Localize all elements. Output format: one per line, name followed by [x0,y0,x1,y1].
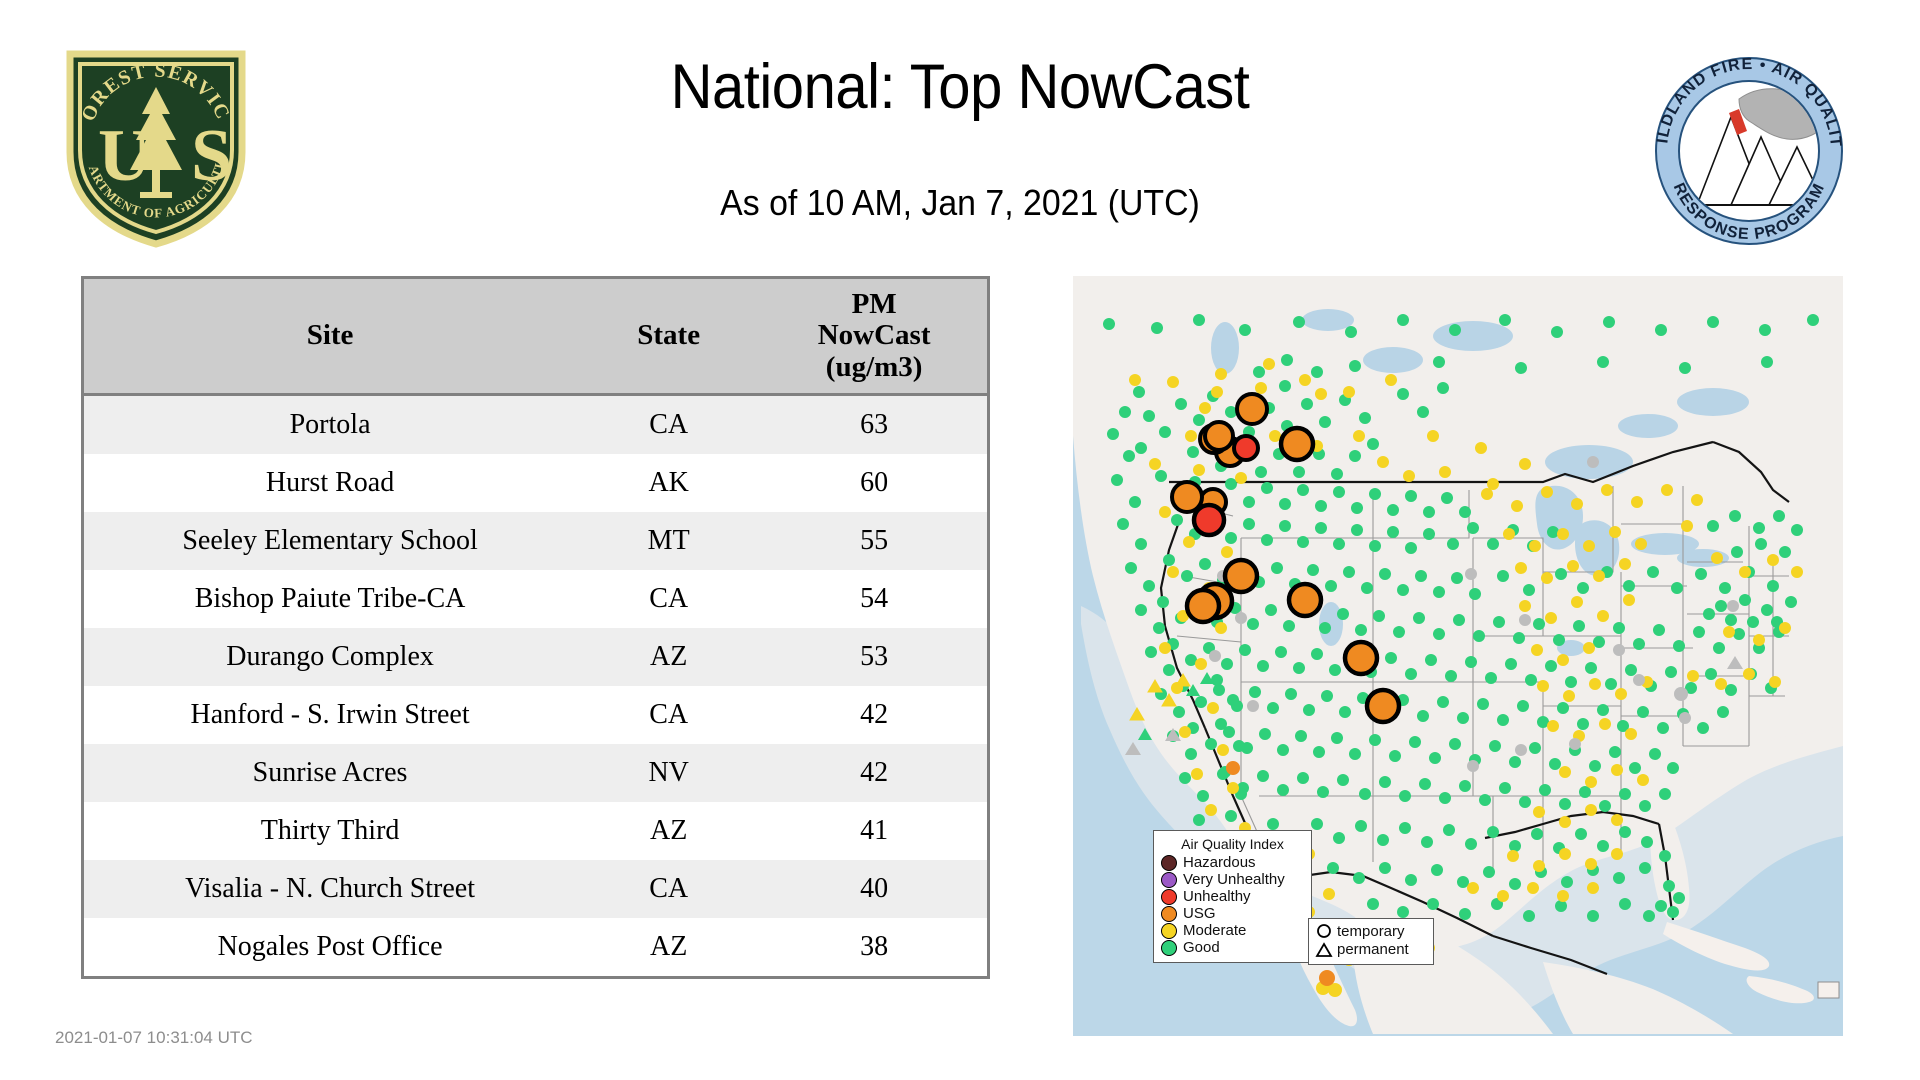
legend-label-good: Good [1183,939,1220,956]
table-row: Portola CA 63 [84,394,987,454]
cell-site: Hanford - S. Irwin Street [84,686,576,744]
triangle-icon [1315,941,1333,959]
legend-dot-hazardous [1161,855,1177,871]
aqi-legend: Air Quality Index Hazardous Very Unhealt… [1153,830,1312,963]
cell-state: AZ [576,918,761,976]
cell-state: AZ [576,628,761,686]
legend-label-hazardous: Hazardous [1183,854,1256,871]
pm-header-line-1: PM [765,289,983,320]
top-site-marker-bishop [1225,560,1257,592]
legend-item-usg: USG [1161,905,1304,922]
cell-pm: 41 [761,802,987,860]
cell-state: MT [576,512,761,570]
top-site-marker [1237,394,1267,424]
table-row: Thirty Third AZ 41 [84,802,987,860]
cell-pm: 38 [761,918,987,976]
page-title: National: Top NowCast [77,56,1843,119]
cell-state: CA [576,394,761,454]
cell-pm: 53 [761,628,987,686]
legend-item-hazardous: Hazardous [1161,854,1304,871]
cell-state: AK [576,454,761,512]
legend-item-very-unhealthy: Very Unhealthy [1161,871,1304,888]
cell-site: Thirty Third [84,802,576,860]
column-header-site: Site [84,279,576,394]
legend-dot-very-unhealthy [1161,872,1177,888]
column-header-pm-nowcast: PM NowCast (ug/m3) [761,279,987,394]
table-row: Bishop Paiute Tribe-CA CA 54 [84,570,987,628]
legend-item-moderate: Moderate [1161,922,1304,939]
top-site-marker-seeley [1281,428,1313,460]
circle-icon [1315,923,1333,941]
aqi-legend-title: Air Quality Index [1161,836,1304,852]
cell-state: CA [576,860,761,918]
cell-site: Seeley Elementary School [84,512,576,570]
page-subtitle: As of 10 AM, Jan 7, 2021 (UTC) [58,185,1863,221]
legend-item-permanent: permanent [1315,941,1427,959]
puerto-rico-inset [1818,982,1839,998]
column-header-state: State [576,279,761,394]
top-site-marker-portola [1194,505,1224,535]
legend-label-very-unhealthy: Very Unhealthy [1183,871,1285,888]
legend-item-temporary: temporary [1315,923,1427,941]
cell-site: Nogales Post Office [84,918,576,976]
cell-state: CA [576,570,761,628]
top-site-marker-durango [1367,690,1399,722]
legend-label-permanent: permanent [1337,941,1409,959]
table-row: Visalia - N. Church Street CA 40 [84,860,987,918]
slide-root: FOREST SERVICE U S DEPARTMENT OF AGRICUL… [0,0,1920,1080]
cell-state: NV [576,744,761,802]
table-row: Durango Complex AZ 53 [84,628,987,686]
legend-label-moderate: Moderate [1183,922,1246,939]
legend-item-unhealthy: Unhealthy [1161,888,1304,905]
generated-timestamp: 2021-01-07 10:31:04 UTC [55,1028,253,1048]
table-row: Hanford - S. Irwin Street CA 42 [84,686,987,744]
table-row: Hurst Road AK 60 [84,454,987,512]
top-site-marker-thirtythird [1345,642,1377,674]
monitor-type-legend: temporary permanent [1308,918,1434,965]
cell-state: AZ [576,802,761,860]
table-row: Nogales Post Office AZ 38 [84,918,987,976]
cell-site: Sunrise Acres [84,744,576,802]
top-site-marker-visalia [1187,590,1219,622]
legend-label-unhealthy: Unhealthy [1183,888,1251,905]
top-site-marker [1234,436,1258,460]
table-header-row: Site State PM NowCast (ug/m3) [84,279,987,394]
top-site-marker-sunrise [1289,584,1321,616]
pm-header-line-3: (ug/m3) [765,352,983,383]
cell-site: Durango Complex [84,628,576,686]
legend-item-good: Good [1161,939,1304,956]
legend-label-usg: USG [1183,905,1216,922]
cell-site: Hurst Road [84,454,576,512]
cell-pm: 60 [761,454,987,512]
legend-dot-moderate [1161,923,1177,939]
cell-site: Portola [84,394,576,454]
pm-header-line-2: NowCast [765,320,983,351]
cell-pm: 42 [761,744,987,802]
cell-state: CA [576,686,761,744]
legend-dot-good [1161,940,1177,956]
cell-pm: 63 [761,394,987,454]
cell-site: Bishop Paiute Tribe-CA [84,570,576,628]
cell-site: Visalia - N. Church Street [84,860,576,918]
top-nowcast-table: Site State PM NowCast (ug/m3) Portola CA… [81,276,990,979]
legend-dot-unhealthy [1161,889,1177,905]
cell-pm: 40 [761,860,987,918]
table-row: Sunrise Acres NV 42 [84,744,987,802]
cell-pm: 54 [761,570,987,628]
table-row: Seeley Elementary School MT 55 [84,512,987,570]
legend-label-temporary: temporary [1337,923,1405,941]
cell-pm: 42 [761,686,987,744]
cell-pm: 55 [761,512,987,570]
legend-dot-usg [1161,906,1177,922]
